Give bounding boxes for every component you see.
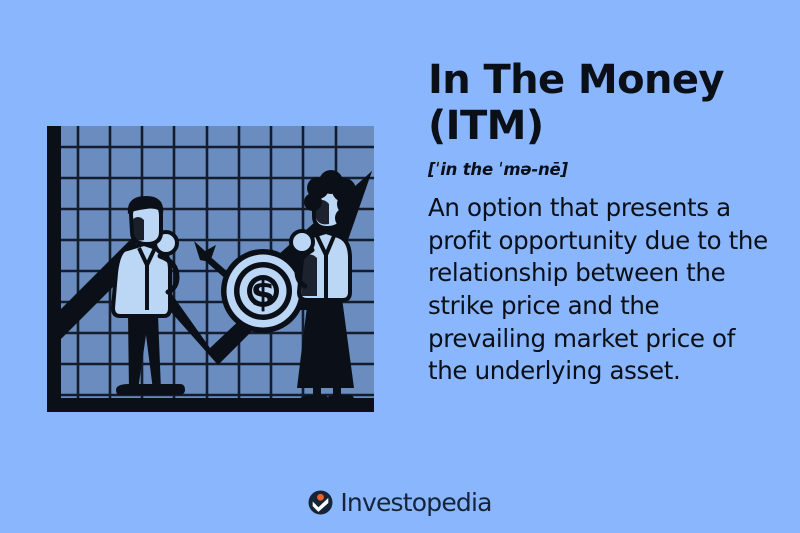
- brand-name: Investopedia: [340, 490, 491, 515]
- text-column: In The Money (ITM) [ˈin the ˈmə-nē] An o…: [428, 58, 780, 388]
- definition-text: An option that presents a profit opportu…: [428, 192, 780, 387]
- target-dollar-symbol: $: [250, 274, 275, 315]
- page-title: In The Money (ITM): [428, 58, 780, 149]
- definition-card: $: [0, 0, 800, 533]
- illustration: $: [20, 110, 395, 425]
- pronunciation: [ˈin the ˈmə-nē]: [428, 160, 780, 179]
- term-title-line2: (ITM): [428, 103, 544, 149]
- investopedia-logo-icon: [308, 490, 333, 515]
- brand-footer: Investopedia: [0, 490, 800, 515]
- term-title-line1: In The Money: [428, 57, 724, 103]
- dollar-target: $: [221, 249, 305, 333]
